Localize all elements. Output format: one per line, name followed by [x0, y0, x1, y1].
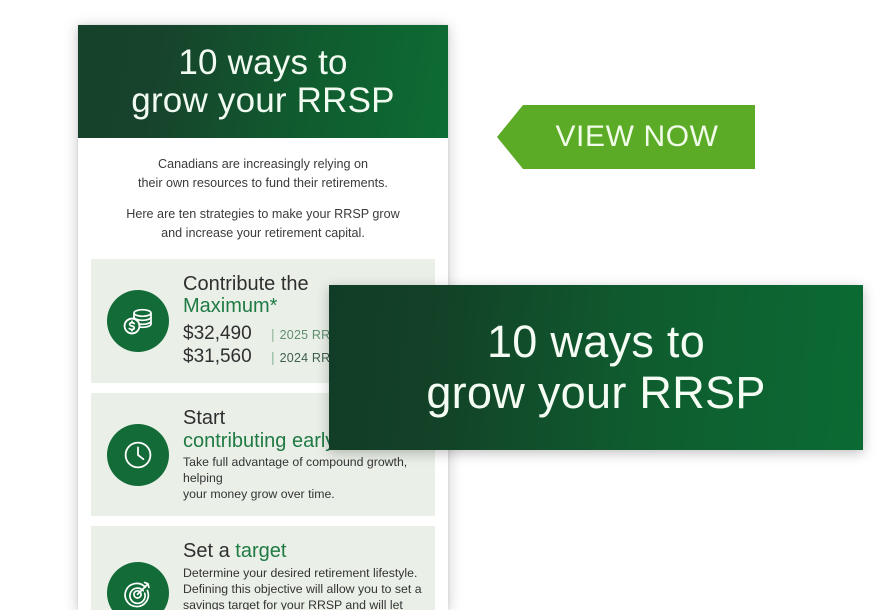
tip-heading-plain: Contribute the	[183, 273, 309, 295]
intro-paragraph-2: Here are ten strategies to make your RRS…	[104, 205, 422, 242]
amount-value: $32,490	[183, 323, 269, 345]
coins-stack-icon	[107, 290, 169, 352]
infographic-header: 10 ways to grow your RRSP	[78, 25, 448, 138]
tip-description: Take full advantage of compound growth, …	[183, 454, 425, 502]
tip-heading-accent: Maximum*	[183, 295, 277, 317]
tip-heading-plain: Set a	[183, 540, 230, 562]
tip-body: Set a target Determine your desired reti…	[183, 540, 425, 610]
tip-card-set-a-target[interactable]: Set a target Determine your desired reti…	[91, 526, 435, 610]
amount-value: $31,560	[183, 346, 269, 368]
view-now-button[interactable]: VIEW NOW	[497, 105, 755, 169]
infographic-title: 10 ways to grow your RRSP	[131, 44, 394, 119]
intro-paragraph-1: Canadians are increasingly relying on th…	[104, 155, 422, 192]
intro-block: Canadians are increasingly relying on th…	[78, 138, 448, 259]
tip-description: Determine your desired retirement lifest…	[183, 565, 425, 610]
target-arrow-icon	[107, 562, 169, 610]
tip-heading-accent: target	[235, 540, 286, 562]
amount-separator: |	[271, 349, 275, 365]
clock-icon	[107, 424, 169, 486]
amount-separator: |	[271, 326, 275, 342]
tip-heading-accent: contributing early	[183, 430, 335, 452]
tip-heading: Set a target	[183, 540, 425, 562]
overlay-panel-title: 10 ways to grow your RRSP	[426, 317, 765, 419]
overlay-title-panel: 10 ways to grow your RRSP	[329, 285, 863, 450]
tip-heading-plain: Start	[183, 407, 225, 429]
